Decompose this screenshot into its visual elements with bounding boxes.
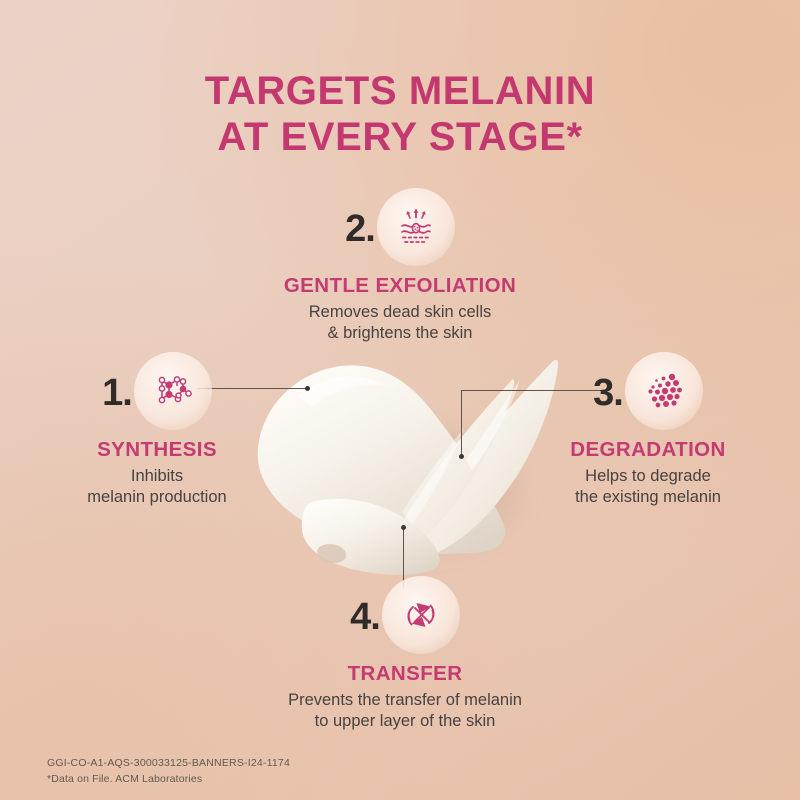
connector-dot-synthesis [305,386,310,391]
step-1-badge: 1. [28,352,286,430]
step-4-title: TRANSFER [240,663,570,686]
step-4-desc-line-2: to upper layer of the skin [240,711,570,732]
step-3-desc: Helps to degrade the existing melanin [518,466,778,508]
molecule-icon [134,352,212,430]
connector-line-degradation-v [461,390,462,456]
step-1-desc-line-2: melanin production [28,487,286,508]
step-2-desc: Removes dead skin cells & brightens the … [250,302,550,344]
step-3-number: 3. [593,374,623,412]
title-line-1: TARGETS MELANIN [0,68,800,114]
step-2-badge: 2. [250,188,550,266]
footer-legal: GGI-CO-A1-AQS-300033125-BANNERS-I24-1174… [47,755,290,788]
melanin-dots-icon [625,352,703,430]
step-degradation: 3. [518,352,778,508]
page-title: TARGETS MELANIN AT EVERY STAGE* [0,68,800,161]
infographic-canvas: TARGETS MELANIN AT EVERY STAGE* [0,0,800,800]
step-1-number: 1. [102,374,132,412]
step-3-badge: 3. [518,352,778,430]
step-3-desc-line-1: Helps to degrade [518,466,778,487]
step-4-badge: 4. [240,576,570,654]
footer-disclaimer: *Data on File. ACM Laboratories [47,771,290,787]
step-4-desc: Prevents the transfer of melanin to uppe… [240,690,570,732]
step-1-desc-line-1: Inhibits [28,466,286,487]
step-3-title: DEGRADATION [518,439,778,462]
connector-dot-degradation [459,454,464,459]
step-4-desc-line-1: Prevents the transfer of melanin [240,690,570,711]
cycle-arrows-icon [382,576,460,654]
step-2-number: 2. [345,210,375,248]
step-1-desc: Inhibits melanin production [28,466,286,508]
connector-dot-transfer [401,525,406,530]
step-2-desc-line-2: & brightens the skin [250,323,550,344]
step-1-title: SYNTHESIS [28,439,286,462]
step-synthesis: 1. [28,352,286,508]
skin-exfoliation-icon [377,188,455,266]
step-4-number: 4. [350,598,380,636]
step-2-desc-line-1: Removes dead skin cells [250,302,550,323]
footer-code: GGI-CO-A1-AQS-300033125-BANNERS-I24-1174 [47,755,290,771]
title-line-2: AT EVERY STAGE* [0,114,800,160]
step-2-title: GENTLE EXFOLIATION [250,275,550,298]
step-3-desc-line-2: the existing melanin [518,487,778,508]
step-transfer: 4. [240,576,570,732]
step-gentle-exfoliation: 2. [250,188,550,344]
